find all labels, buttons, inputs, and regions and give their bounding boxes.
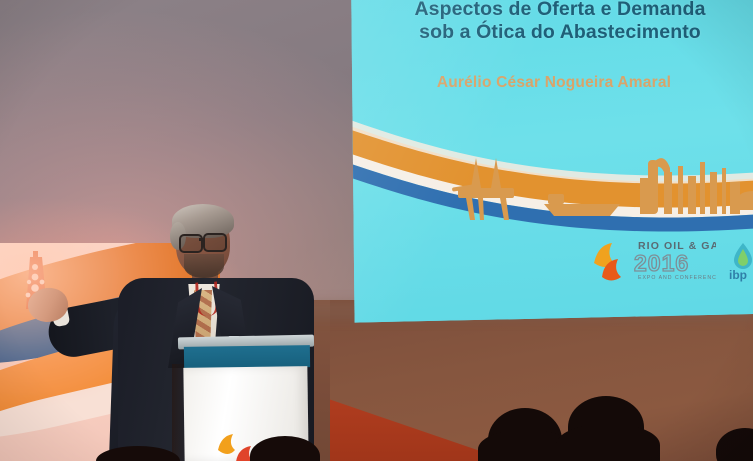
eyeglasses-lens-left: [179, 234, 203, 253]
eyeglasses-bridge: [199, 238, 204, 241]
audience-shoulders: [556, 424, 660, 461]
podium-accent-band: [184, 345, 310, 369]
eyeglasses-lens-right: [203, 233, 227, 252]
slide-projection-sheen: [348, 0, 753, 328]
projection-screen: Aspectos de Oferta e Demanda sob a Ótica…: [348, 0, 753, 328]
presentation-photo-scene: Aspectos de Oferta e Demanda sob a Ótica…: [0, 0, 753, 461]
speaker-beard: [184, 254, 224, 278]
